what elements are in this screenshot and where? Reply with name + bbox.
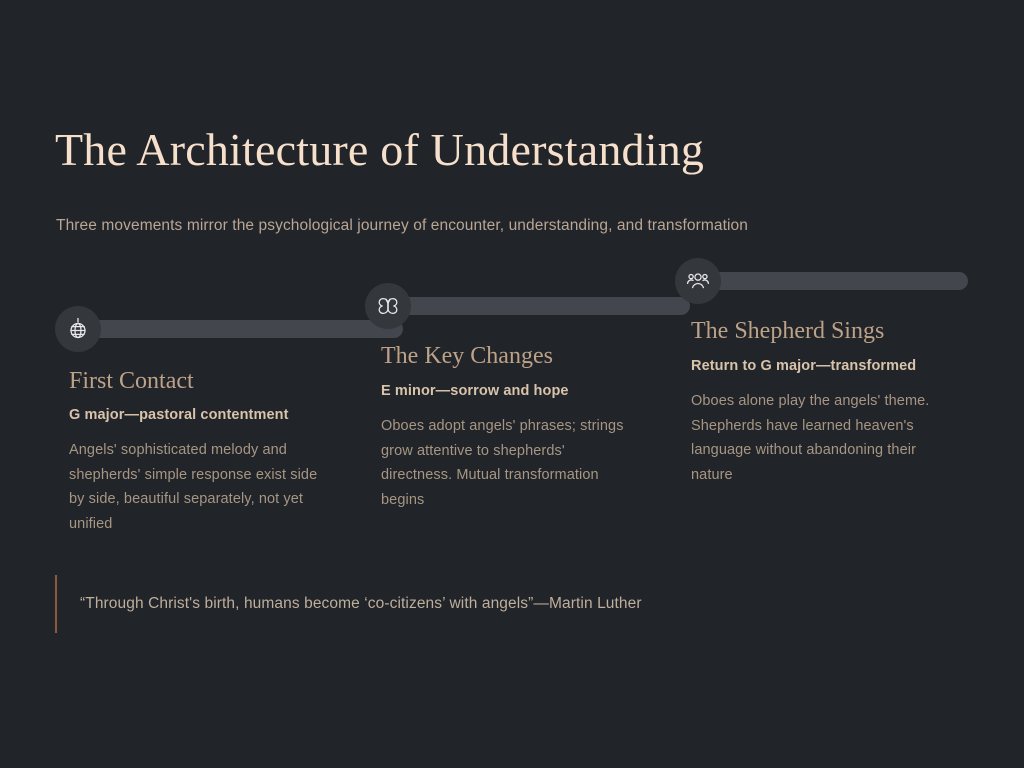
movement-key-1: G major—pastoral contentment: [69, 407, 289, 423]
movement-node-3[interactable]: [675, 258, 721, 304]
movement-heading-3: The Shepherd Sings: [691, 318, 884, 345]
page-title: The Architecture of Understanding: [55, 125, 704, 176]
movement-body-1: Angels' sophisticated melody and shepher…: [69, 438, 331, 536]
quote-accent-rule: [55, 575, 57, 633]
movement-key-3: Return to G major—transformed: [691, 358, 916, 374]
disco-ball-icon: [66, 317, 90, 341]
movement-key-2: E minor—sorrow and hope: [381, 383, 569, 399]
movement-node-2[interactable]: [365, 283, 411, 329]
slide-root: The Architecture of Understanding Three …: [0, 0, 1024, 768]
users-group-icon: [686, 269, 710, 293]
quote-text: “Through Christ's birth, humans become ‘…: [80, 595, 642, 613]
progress-bar-1: [89, 320, 403, 338]
progress-bar-2: [399, 297, 690, 315]
quote-block: “Through Christ's birth, humans become ‘…: [55, 575, 642, 633]
butterfly-icon: [376, 294, 400, 318]
progress-bar-3: [709, 272, 968, 290]
page-subtitle: Three movements mirror the psychological…: [56, 217, 748, 235]
movement-body-3: Oboes alone play the angels' theme. Shep…: [691, 389, 936, 487]
movement-body-2: Oboes adopt angels' phrases; strings gro…: [381, 414, 626, 512]
movement-node-1[interactable]: [55, 306, 101, 352]
movement-heading-2: The Key Changes: [381, 343, 553, 370]
movement-heading-1: First Contact: [69, 368, 194, 395]
